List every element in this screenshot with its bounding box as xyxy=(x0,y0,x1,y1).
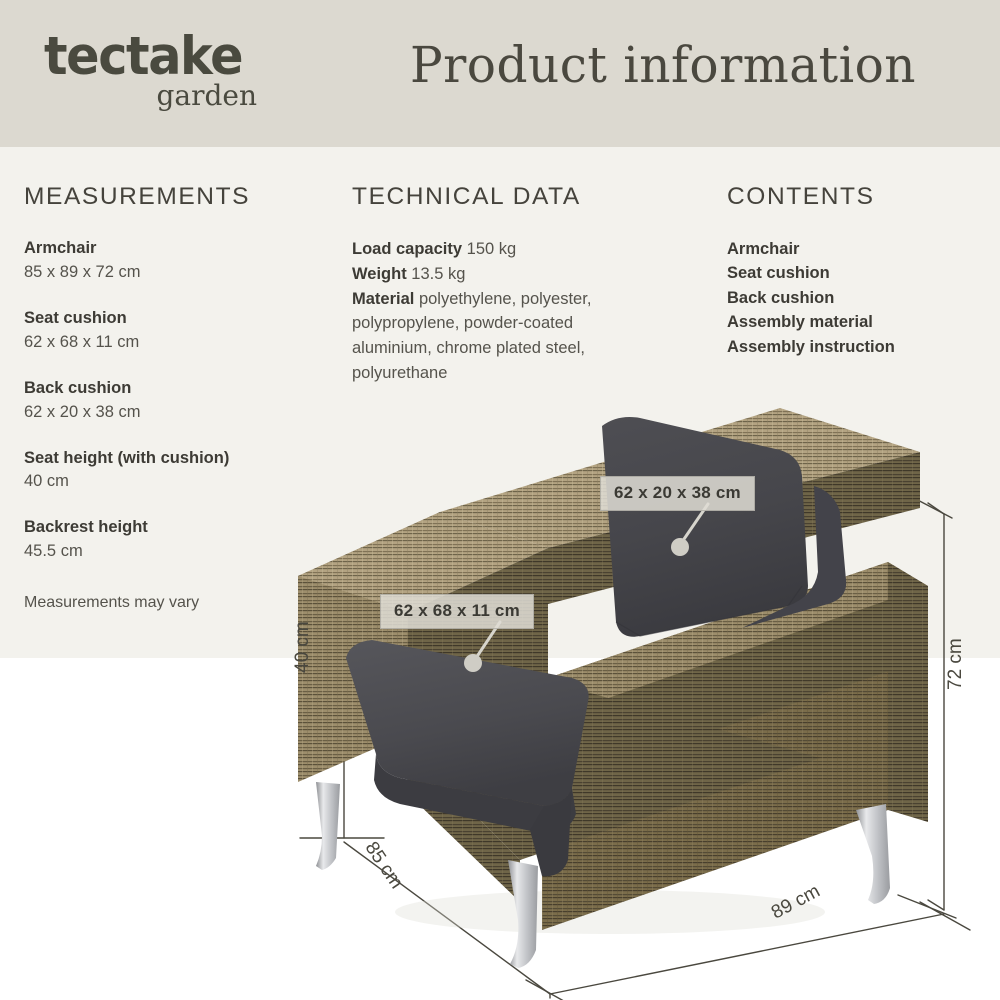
measurements-column: MEASUREMENTS Armchair 85 x 89 x 72 cm Se… xyxy=(24,183,324,612)
measurement-group: Armchair 85 x 89 x 72 cm xyxy=(24,237,324,285)
measurement-value: 62 x 20 x 38 cm xyxy=(24,401,324,425)
measurement-value: 85 x 89 x 72 cm xyxy=(24,261,324,285)
contents-item: Assembly material xyxy=(727,310,992,334)
contents-item: Seat cushion xyxy=(727,261,992,285)
measurement-value: 45.5 cm xyxy=(24,540,324,564)
header-band: tectake garden Product information xyxy=(0,0,1000,147)
contents-item: Back cushion xyxy=(727,286,992,310)
contents-column: CONTENTS Armchair Seat cushion Back cush… xyxy=(727,183,992,359)
measurement-group: Backrest height 45.5 cm xyxy=(24,516,324,564)
measurement-label: Backrest height xyxy=(24,516,324,540)
callout-dot-seat-cushion xyxy=(464,654,482,672)
technical-data-column: TECHNICAL DATA Load capacity 150 kg Weig… xyxy=(352,183,652,386)
contents-item: Armchair xyxy=(727,237,992,261)
measurements-footnote: Measurements may vary xyxy=(24,594,324,612)
page-title: Product information xyxy=(410,36,973,94)
callout-seat-cushion: 62 x 68 x 11 cm xyxy=(380,594,534,629)
measurement-group: Seat height (with cushion) 40 cm xyxy=(24,447,324,495)
back-cushion xyxy=(602,417,808,637)
brand-logo: tectake garden xyxy=(44,32,284,112)
product-information-sheet: tectake garden Product information MEASU… xyxy=(0,0,1000,1000)
measurement-value: 40 cm xyxy=(24,470,324,494)
dimension-label-seat-height: 40 cm xyxy=(292,621,314,673)
technical-row: Material polyethylene, polyester, polypr… xyxy=(352,287,652,386)
logo-wordmark: tectake xyxy=(44,32,267,82)
callout-dot-back-cushion xyxy=(671,538,689,556)
technical-data-heading: TECHNICAL DATA xyxy=(352,183,652,211)
measurement-label: Back cushion xyxy=(24,377,324,401)
technical-key: Load capacity xyxy=(352,240,462,258)
measurements-heading: MEASUREMENTS xyxy=(24,183,324,211)
technical-value: 13.5 kg xyxy=(411,265,465,283)
measurement-value: 62 x 68 x 11 cm xyxy=(24,331,324,355)
measurement-label: Armchair xyxy=(24,237,324,261)
technical-key: Weight xyxy=(352,265,407,283)
contents-heading: CONTENTS xyxy=(727,183,992,211)
contents-item: Assembly instruction xyxy=(727,335,992,359)
technical-row: Load capacity 150 kg xyxy=(352,237,652,262)
technical-row: Weight 13.5 kg xyxy=(352,262,652,287)
dimension-label-total-height: 72 cm xyxy=(945,638,967,690)
measurement-label: Seat cushion xyxy=(24,307,324,331)
technical-value: 150 kg xyxy=(467,240,517,258)
measurement-group: Seat cushion 62 x 68 x 11 cm xyxy=(24,307,324,355)
technical-key: Material xyxy=(352,290,414,308)
leg-right-rear xyxy=(856,804,890,904)
callout-back-cushion: 62 x 20 x 38 cm xyxy=(600,476,755,511)
measurement-label: Seat height (with cushion) xyxy=(24,447,324,471)
measurement-group: Back cushion 62 x 20 x 38 cm xyxy=(24,377,324,425)
